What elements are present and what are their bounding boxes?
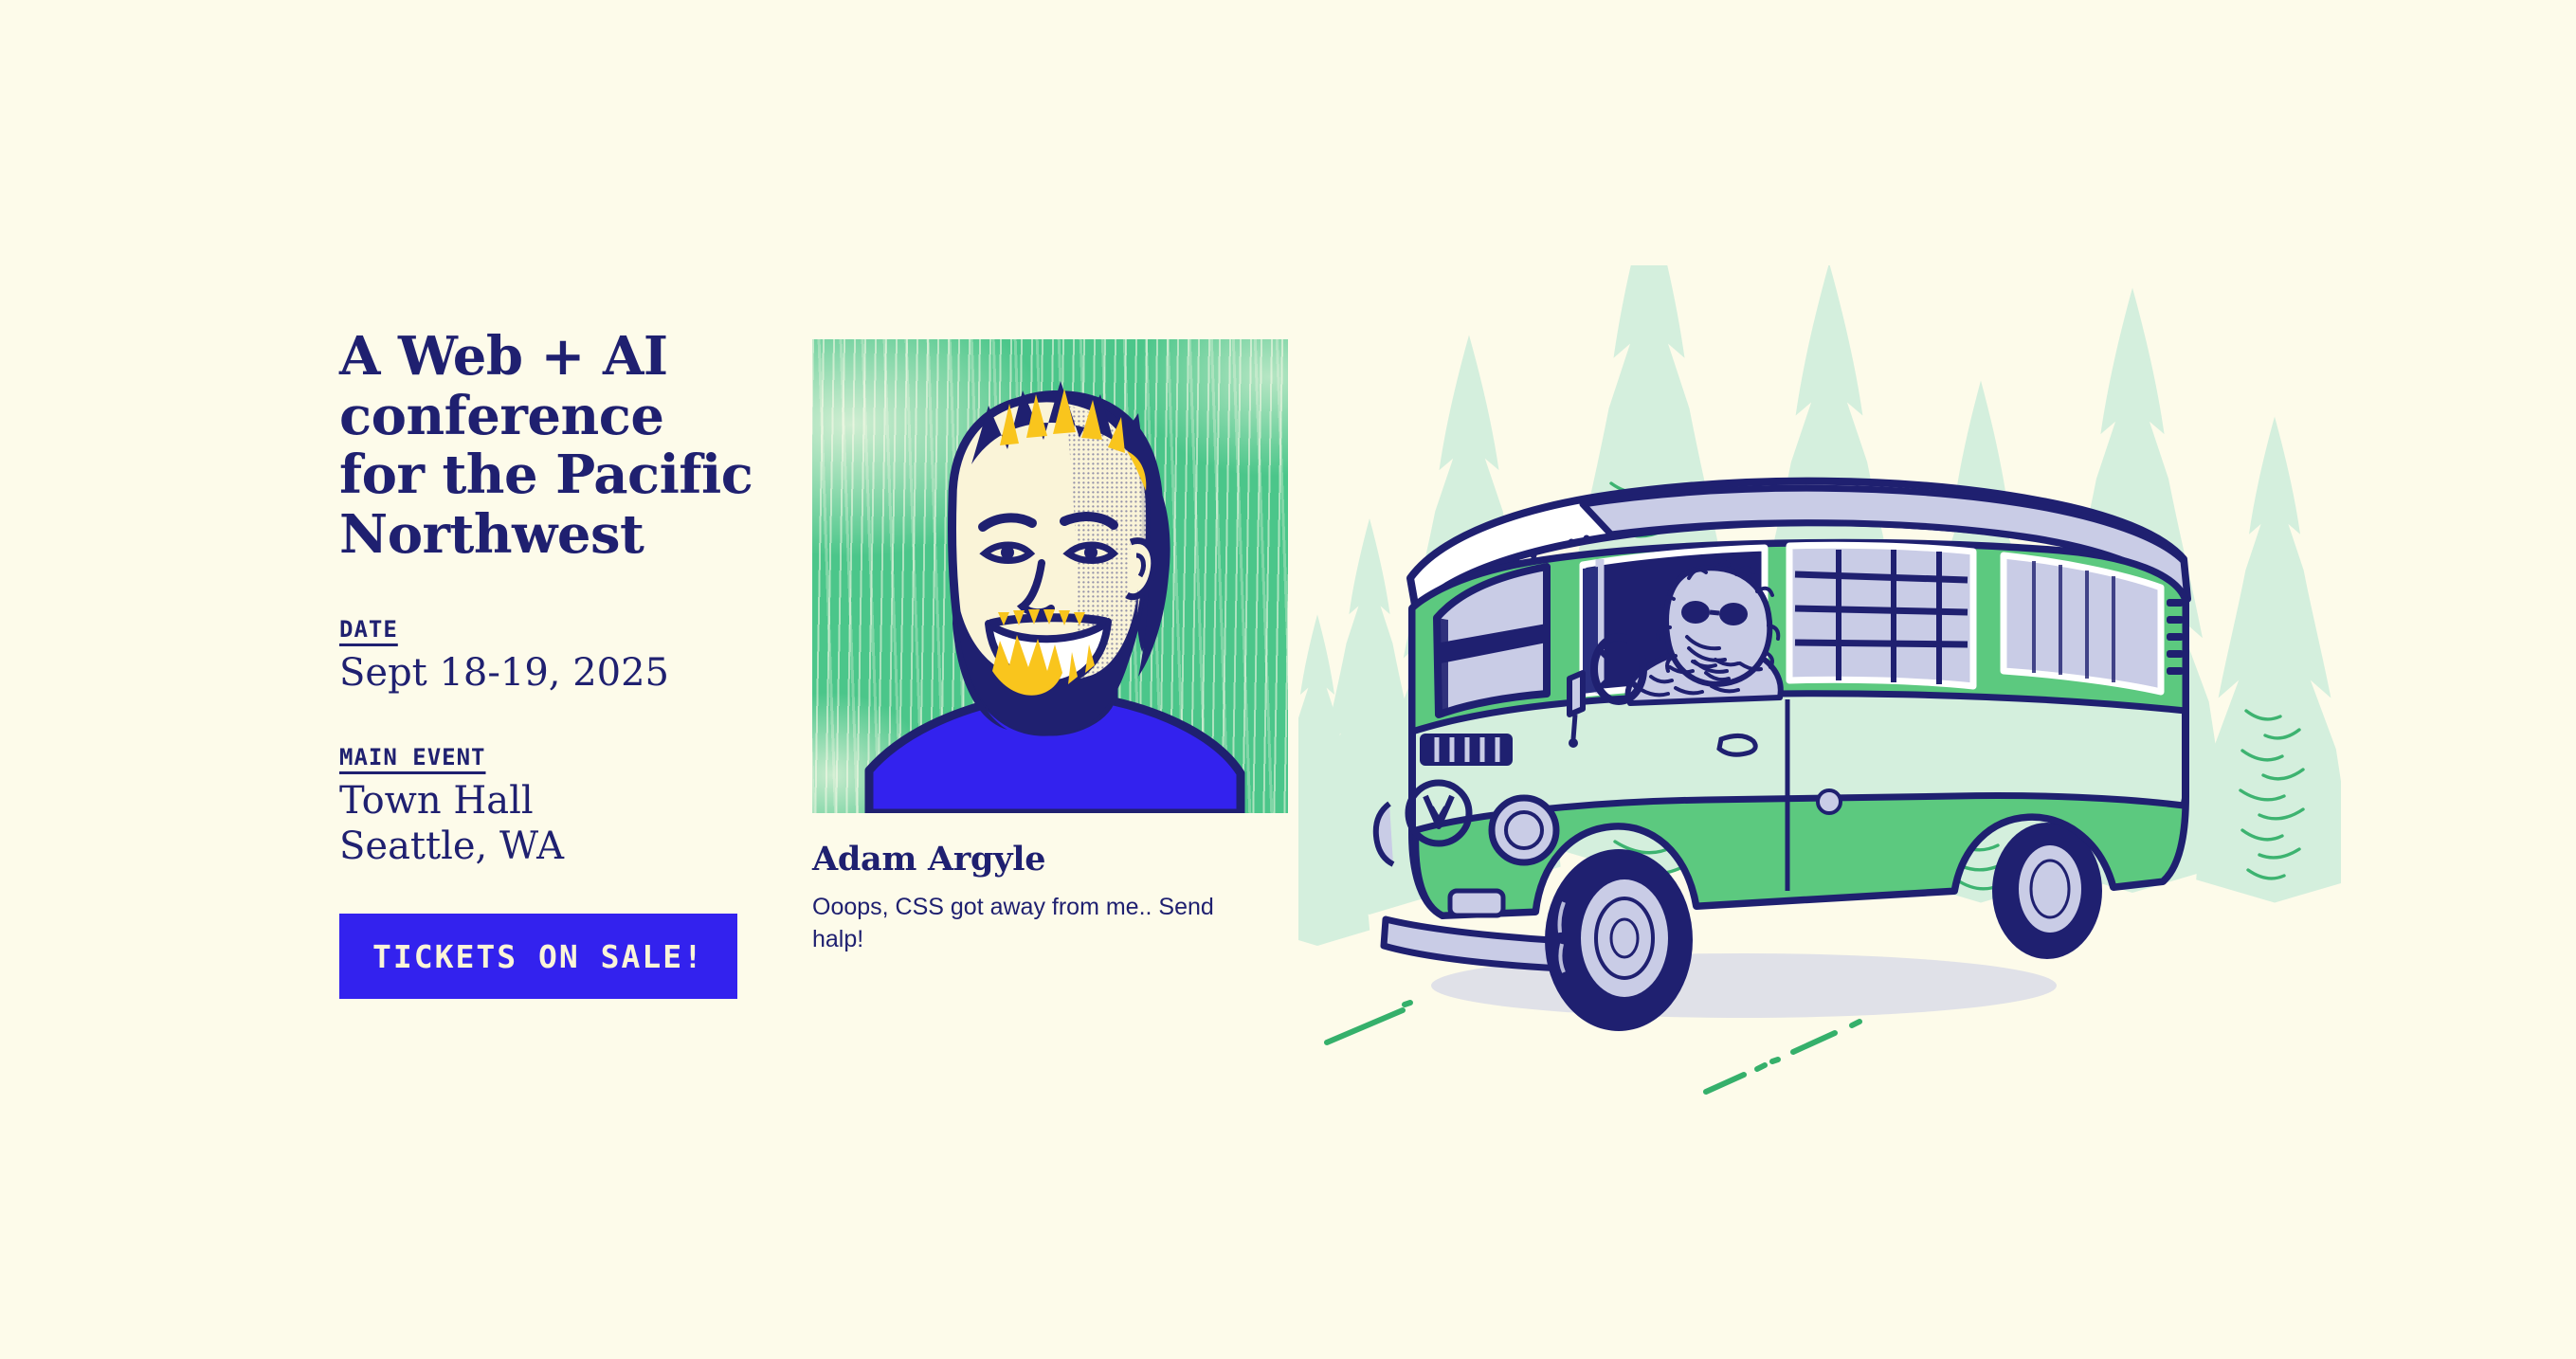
front-wheel xyxy=(1545,849,1693,1031)
front-vents xyxy=(1420,734,1513,766)
conference-hero: A Web + AI conference for the Pacific No… xyxy=(0,0,2576,1359)
detail-date: DATE Sept 18-19, 2025 xyxy=(339,616,756,697)
vw-camper-van xyxy=(1376,481,2187,1031)
speaker-quote: Ooops, CSS got away from me.. Send halp! xyxy=(812,892,1258,956)
detail-value-main-event: Town Hall Seattle, WA xyxy=(339,778,756,871)
detail-label-main-event: MAIN EVENT xyxy=(339,744,486,770)
speaker-card: Adam Argyle Ooops, CSS got away from me.… xyxy=(812,339,1288,956)
speaker-name: Adam Argyle xyxy=(812,840,1288,879)
detail-value-date: Sept 18-19, 2025 xyxy=(339,650,756,697)
detail-label-date: DATE xyxy=(339,616,398,643)
page-title: A Web + AI conference for the Pacific No… xyxy=(339,327,756,565)
scene-illustration xyxy=(1298,265,2341,1175)
door-handle xyxy=(1719,735,1755,754)
camper-van-forest-illustration xyxy=(1298,265,2341,1175)
speaker-portrait-illustration xyxy=(812,339,1288,813)
speaker-portrait xyxy=(812,339,1288,813)
detail-main-event: MAIN EVENT Town Hall Seattle, WA xyxy=(339,744,756,871)
tickets-on-sale-button[interactable]: TICKETS ON SALE! xyxy=(339,914,737,999)
hero-copy-column: A Web + AI conference for the Pacific No… xyxy=(339,327,756,999)
